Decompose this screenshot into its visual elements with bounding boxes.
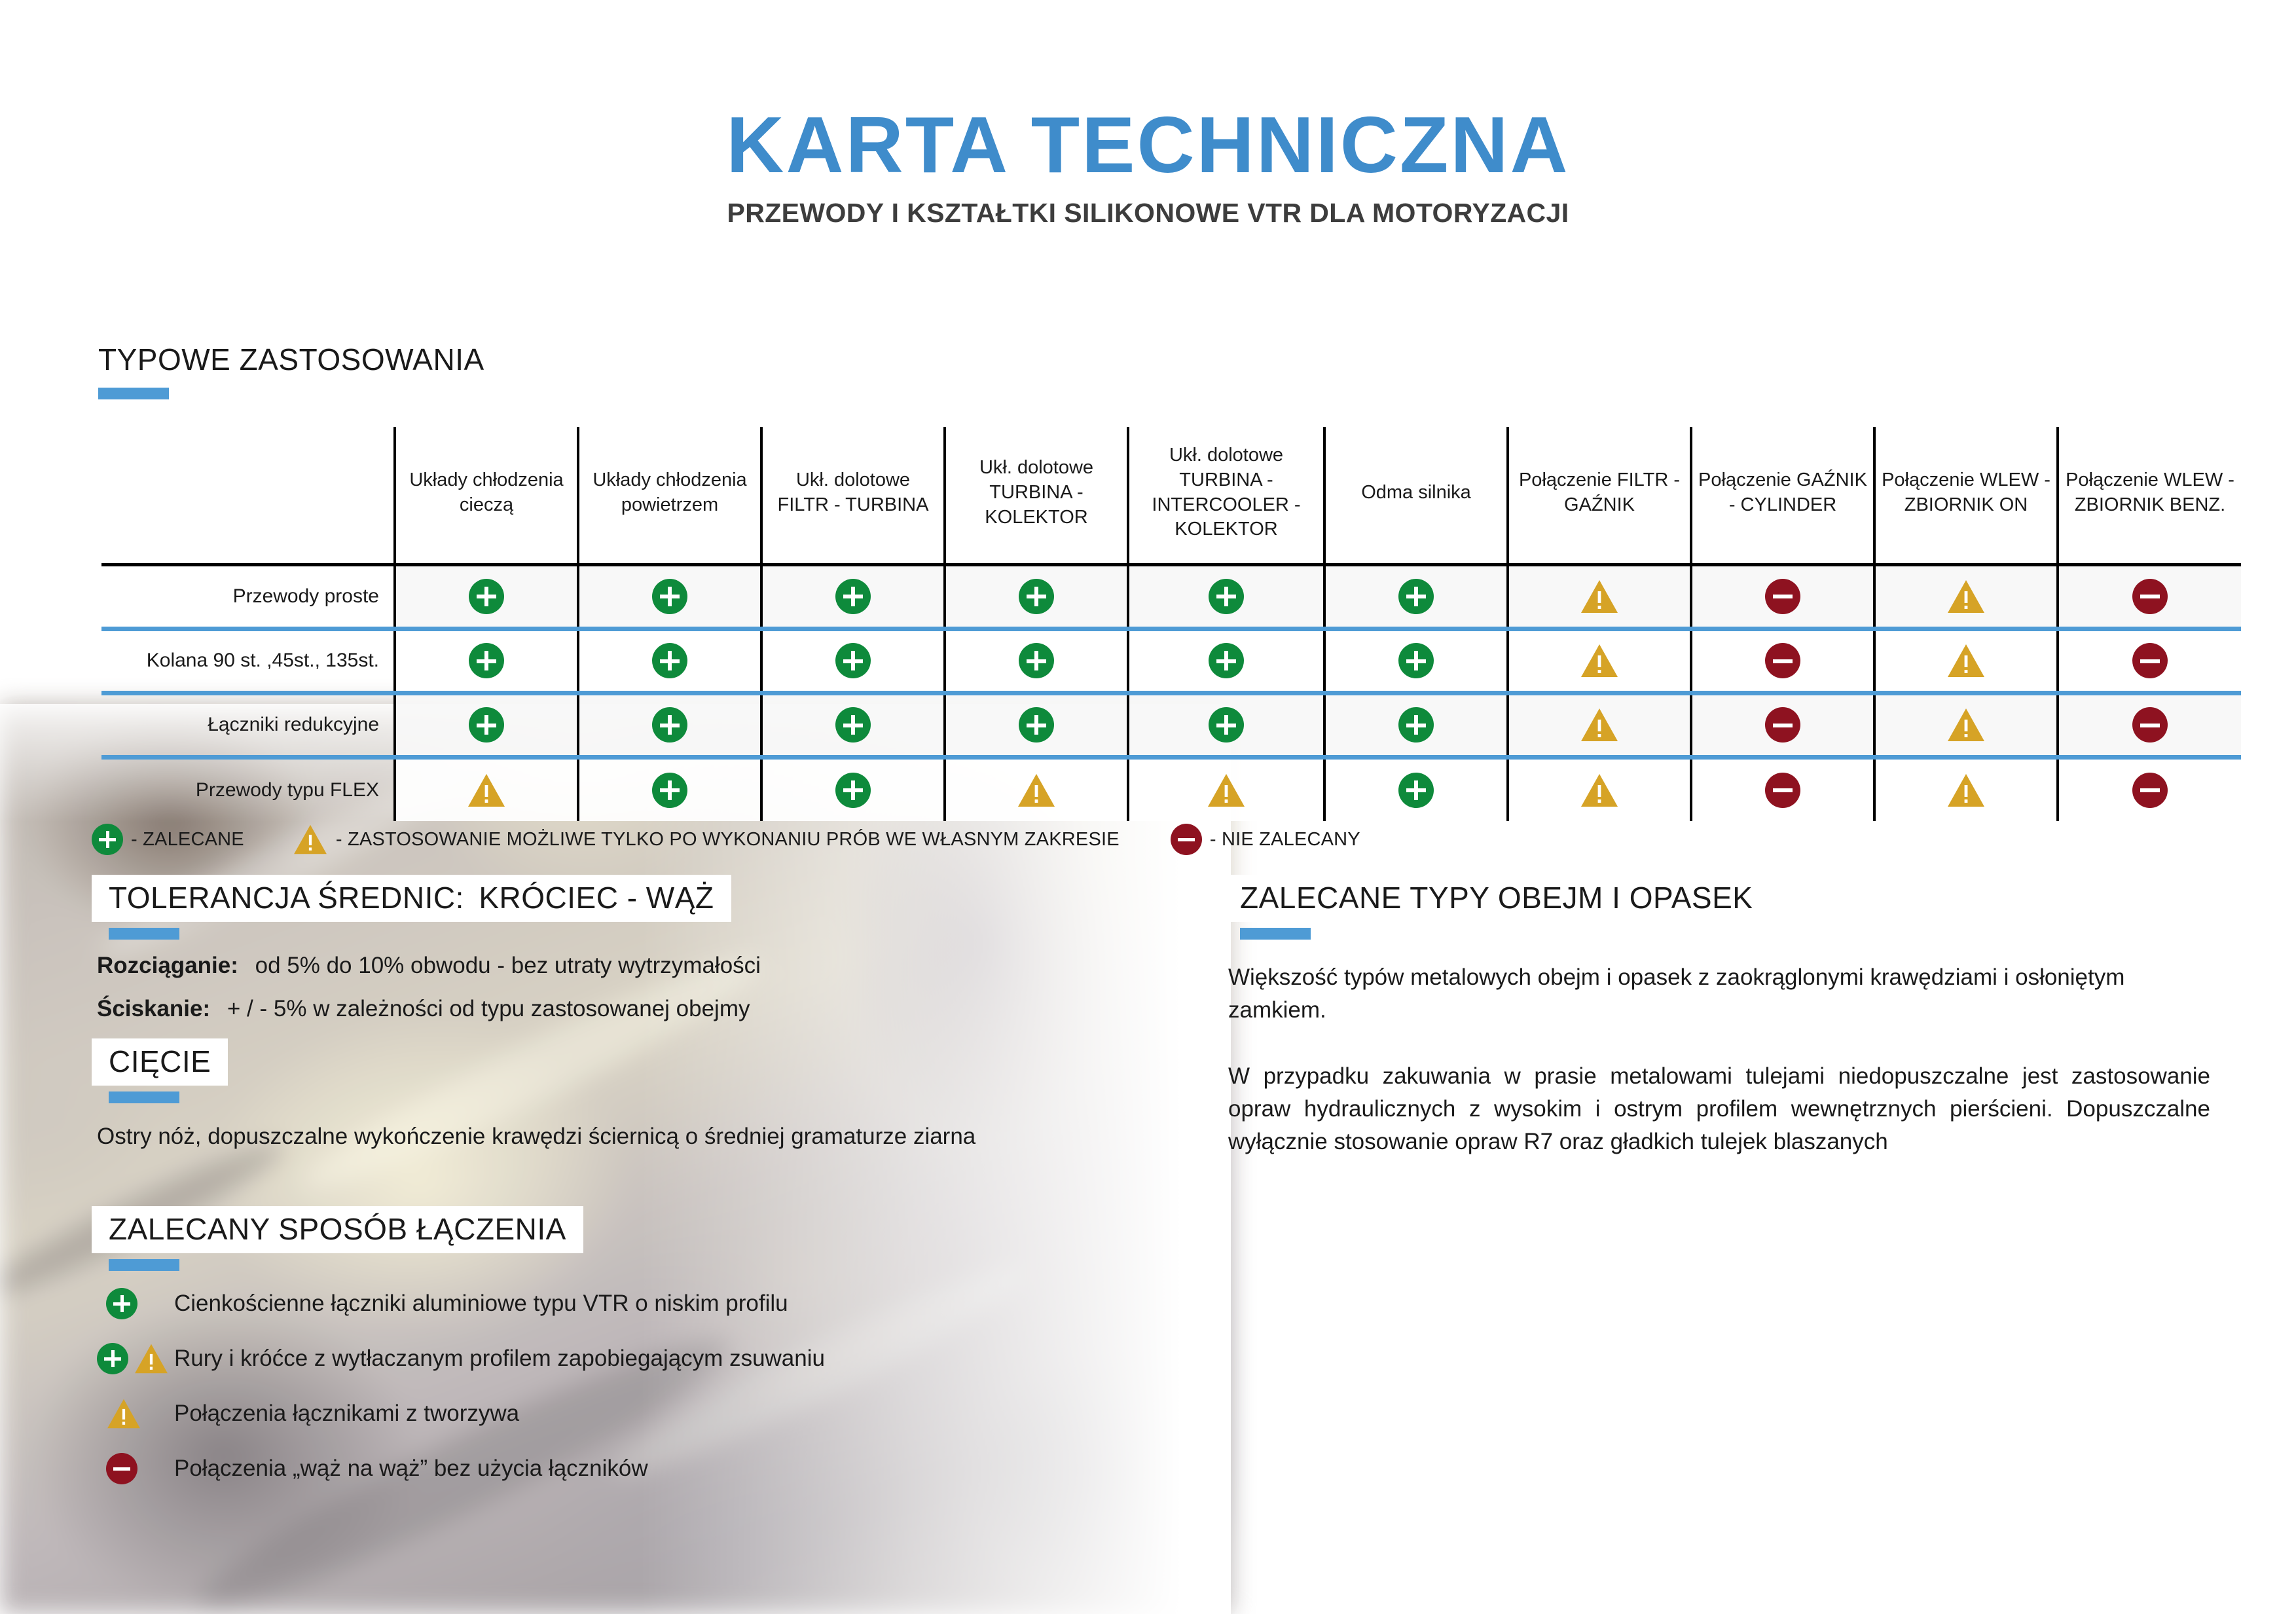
section-heading-tolerance: TOLERANCJA ŚREDNIC: KRÓCIEC - WĄŻ (92, 875, 731, 940)
table-row: Przewody proste (101, 564, 2241, 629)
cell-r2-c0 (395, 693, 578, 757)
warning-icon (1017, 773, 1056, 808)
warning-icon (467, 773, 506, 808)
cell-r2-c9 (2058, 693, 2241, 757)
col-header-4: Ukł. dolotowe TURBINA - INTERCOOLER - KO… (1128, 427, 1324, 564)
warning-icon (1580, 579, 1619, 614)
cell-r1-c8 (1874, 629, 2058, 693)
cell-r3-c7 (1691, 757, 1874, 821)
warning-icon (134, 1343, 169, 1374)
table-row: Kolana 90 st. ,45st., 135st. (101, 629, 2241, 693)
warning-icon (1946, 707, 1986, 743)
plus-icon (835, 707, 871, 743)
cell-r3-c1 (578, 757, 761, 821)
plus-icon (652, 773, 687, 808)
plus-icon (1209, 643, 1244, 678)
plus-icon (1398, 579, 1434, 614)
section-heading-cutting: CIĘCIE (92, 1038, 228, 1103)
cell-r3-c9 (2058, 757, 2241, 821)
table-row: Łączniki redukcyjne (101, 693, 2241, 757)
minus-icon (2132, 643, 2168, 678)
cell-r0-c0 (395, 564, 578, 629)
plus-icon (469, 707, 504, 743)
warning-icon (1946, 579, 1986, 614)
joining-list: Cienkościenne łączniki aluminiowe typu V… (97, 1287, 1079, 1507)
cell-r1-c7 (1691, 629, 1874, 693)
plus-icon (92, 824, 123, 855)
plus-icon (652, 643, 687, 678)
blue-accent-rule (1240, 928, 1311, 940)
minus-icon (1765, 707, 1800, 743)
cell-r3-c2 (761, 757, 945, 821)
section-title-clamps: ZALECANE TYPY OBEJM I OPASEK (1240, 881, 1753, 915)
cell-r3-c5 (1324, 757, 1508, 821)
plus-icon (835, 773, 871, 808)
list-item-icons (97, 1453, 174, 1484)
row-label: Przewody proste (101, 564, 395, 629)
cell-r3-c6 (1508, 757, 1691, 821)
col-header-3: Ukł. dolotowe TURBINA - KOLEKTOR (945, 427, 1128, 564)
plus-icon (1398, 707, 1434, 743)
cell-r1-c2 (761, 629, 945, 693)
tolerance-stretch-line: Rozciąganie: od 5% do 10% obwodu - bez u… (97, 953, 1118, 979)
tolerance-stretch-label: Rozciąganie: (97, 953, 238, 978)
tolerance-body: Rozciąganie: od 5% do 10% obwodu - bez u… (97, 953, 1118, 1039)
blue-accent-rule (109, 1091, 179, 1103)
warning-icon (1946, 773, 1986, 808)
legend-label-conditional: - ZASTOSOWANIE MOŻLIWE TYLKO PO WYKONANI… (336, 829, 1120, 851)
blue-accent-rule (109, 1259, 179, 1271)
plus-icon (1209, 579, 1244, 614)
list-item-label: Połączenia „wąż na wąż” bez użycia łączn… (174, 1456, 648, 1482)
cell-r2-c1 (578, 693, 761, 757)
cell-r0-c3 (945, 564, 1128, 629)
section-title-applications: TYPOWE ZASTOSOWANIA (98, 342, 484, 376)
minus-icon (2132, 707, 2168, 743)
cell-r0-c2 (761, 564, 945, 629)
plus-icon (106, 1288, 137, 1319)
list-item: Połączenia „wąż na wąż” bez użycia łączn… (97, 1452, 1079, 1486)
cell-r1-c9 (2058, 629, 2241, 693)
minus-icon (106, 1453, 137, 1484)
list-item-label: Cienkościenne łączniki aluminiowe typu V… (174, 1291, 788, 1317)
plus-icon (1209, 707, 1244, 743)
warning-icon (106, 1398, 141, 1429)
legend-item-conditional: - ZASTOSOWANIE MOŻLIWE TYLKO PO WYKONANI… (293, 824, 1120, 855)
cell-r1-c3 (945, 629, 1128, 693)
legend-item-recommended: - ZALECANE (92, 824, 244, 855)
minus-icon (1765, 643, 1800, 678)
cell-r0-c4 (1128, 564, 1324, 629)
section-title-tolerance: TOLERANCJA ŚREDNIC: (109, 881, 464, 915)
tolerance-compression-label: Ściskanie: (97, 996, 210, 1021)
page-title: KARTA TECHNICZNA (0, 105, 2296, 185)
cell-r1-c1 (578, 629, 761, 693)
warning-icon (1580, 707, 1619, 743)
col-header-1: Układy chłodzenia powietrzem (578, 427, 761, 564)
tolerance-compression-line: Ściskanie: + / - 5% w zależności od typu… (97, 996, 1118, 1022)
list-item-icons (97, 1288, 174, 1319)
row-label: Łączniki redukcyjne (101, 693, 395, 757)
warning-icon (1580, 773, 1619, 808)
plus-icon (1398, 643, 1434, 678)
list-item-icons (97, 1398, 174, 1429)
cell-r2-c3 (945, 693, 1128, 757)
clamps-body: Większość typów metalowych obejm i opase… (1228, 961, 2210, 1158)
cell-r0-c8 (1874, 564, 2058, 629)
row-label: Kolana 90 st. ,45st., 135st. (101, 629, 395, 693)
col-header-8: Połączenie WLEW - ZBIORNIK ON (1874, 427, 2058, 564)
table-row: Przewody typu FLEX (101, 757, 2241, 821)
warning-icon (1207, 773, 1246, 808)
applications-table: Układy chłodzenia cieczą Układy chłodzen… (101, 427, 2231, 821)
minus-icon (1765, 773, 1800, 808)
cutting-body: Ostry nóż, dopuszczalne wykończenie kraw… (97, 1121, 1092, 1152)
cell-r2-c7 (1691, 693, 1874, 757)
legend: - ZALECANE - ZASTOSOWANIE MOŻLIWE TYLKO … (92, 824, 1360, 855)
list-item-label: Rury i króćce z wytłaczanym profilem zap… (174, 1346, 825, 1372)
section-heading-joining: ZALECANY SPOSÓB ŁĄCZENIA (92, 1206, 583, 1271)
col-header-9: Połączenie WLEW - ZBIORNIK BENZ. (2058, 427, 2241, 564)
cutting-text: Ostry nóż, dopuszczalne wykończenie kraw… (97, 1121, 1092, 1152)
cell-r0-c1 (578, 564, 761, 629)
plus-icon (835, 579, 871, 614)
warning-icon (1580, 643, 1619, 678)
cell-r2-c4 (1128, 693, 1324, 757)
table-header-row: Układy chłodzenia cieczą Układy chłodzen… (101, 427, 2241, 564)
minus-icon (2132, 773, 2168, 808)
section-heading-clamps: ZALECANE TYPY OBEJM I OPASEK (1223, 875, 1770, 940)
cell-r2-c5 (1324, 693, 1508, 757)
minus-icon (2132, 579, 2168, 614)
legend-item-not-recommended: - NIE ZALECANY (1171, 824, 1360, 855)
list-item: Połączenia łącznikami z tworzywa (97, 1397, 1079, 1431)
warning-icon (1946, 643, 1986, 678)
blue-accent-rule (109, 928, 179, 940)
col-header-2: Ukł. dolotowe FILTR - TURBINA (761, 427, 945, 564)
plus-icon (1019, 707, 1054, 743)
page-subtitle: PRZEWODY I KSZTAŁTKI SILIKONOWE VTR DLA … (0, 198, 2296, 229)
cell-r1-c5 (1324, 629, 1508, 693)
row-label: Przewody typu FLEX (101, 757, 395, 821)
col-header-6: Połączenie FILTR - GAŹNIK (1508, 427, 1691, 564)
plus-icon (469, 579, 504, 614)
cell-r1-c0 (395, 629, 578, 693)
cell-r1-c6 (1508, 629, 1691, 693)
cell-r3-c3 (945, 757, 1128, 821)
datasheet-page: KARTA TECHNICZNA PRZEWODY I KSZTAŁTKI SI… (0, 0, 2296, 1614)
cell-r3-c8 (1874, 757, 2058, 821)
page-header: KARTA TECHNICZNA PRZEWODY I KSZTAŁTKI SI… (0, 105, 2296, 229)
col-header-5: Odma silnika (1324, 427, 1508, 564)
plus-icon (1019, 643, 1054, 678)
col-header-7: Połączenie GAŹNIK - CYLINDER (1691, 427, 1874, 564)
cell-r1-c4 (1128, 629, 1324, 693)
cell-r2-c2 (761, 693, 945, 757)
plus-icon (652, 579, 687, 614)
section-title-joining: ZALECANY SPOSÓB ŁĄCZENIA (109, 1212, 566, 1246)
plus-icon (835, 643, 871, 678)
cell-r0-c5 (1324, 564, 1508, 629)
clamps-paragraph-1: Większość typów metalowych obejm i opase… (1228, 961, 2210, 1026)
list-item-icons (97, 1343, 174, 1374)
plus-icon (469, 643, 504, 678)
list-item: Cienkościenne łączniki aluminiowe typu V… (97, 1287, 1079, 1321)
cell-r2-c6 (1508, 693, 1691, 757)
list-item: Rury i króćce z wytłaczanym profilem zap… (97, 1342, 1079, 1376)
warning-icon (293, 824, 328, 855)
col-header-0: Układy chłodzenia cieczą (395, 427, 578, 564)
list-item-label: Połączenia łącznikami z tworzywa (174, 1401, 519, 1427)
section-heading-applications: TYPOWE ZASTOSOWANIA (98, 342, 484, 399)
tolerance-compression-value: + / - 5% w zależności od typu zastosowan… (227, 996, 750, 1021)
cell-r3-c4 (1128, 757, 1324, 821)
legend-label-recommended: - ZALECANE (131, 829, 244, 851)
cell-r0-c6 (1508, 564, 1691, 629)
legend-label-not-recommended: - NIE ZALECANY (1210, 829, 1360, 851)
plus-icon (1398, 773, 1434, 808)
plus-icon (1019, 579, 1054, 614)
tolerance-stretch-value: od 5% do 10% obwodu - bez utraty wytrzym… (255, 953, 761, 978)
section-title-cutting: CIĘCIE (109, 1044, 211, 1078)
blue-accent-rule (98, 388, 169, 399)
plus-icon (97, 1343, 128, 1374)
cell-r3-c0 (395, 757, 578, 821)
plus-icon (652, 707, 687, 743)
minus-icon (1765, 579, 1800, 614)
clamps-paragraph-2: W przypadku zakuwania w prasie metalowam… (1228, 1060, 2210, 1158)
minus-icon (1171, 824, 1202, 855)
cell-r2-c8 (1874, 693, 2058, 757)
section-title-tolerance-bold: KRÓCIEC - WĄŻ (479, 881, 714, 915)
cell-r0-c7 (1691, 564, 1874, 629)
cell-r0-c9 (2058, 564, 2241, 629)
table-corner-cell (101, 427, 395, 564)
